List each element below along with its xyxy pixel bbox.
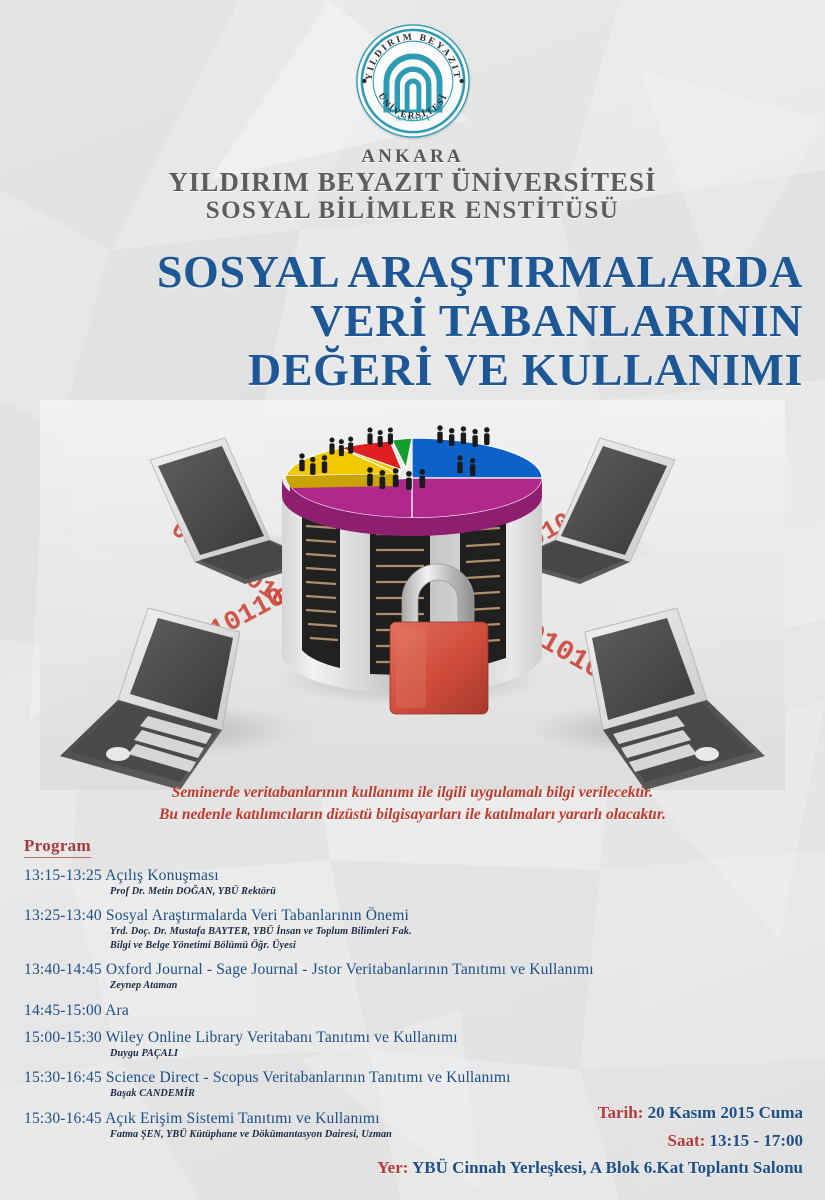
- university-name-line1: YILDIRIM BEYAZIT ÜNİVERSİTESİ: [0, 168, 825, 197]
- program-item-speaker-line: Bilgi ve Belge Yönetimi Bölümü Öğr. Üyes…: [110, 939, 724, 952]
- program-item-main: 13:40-14:45 Oxford Journal - Sage Journa…: [24, 961, 724, 979]
- event-date-value: 20 Kasım 2015 Cuma: [648, 1103, 803, 1122]
- program-item-speaker: Zeynep Ataman: [110, 979, 724, 992]
- program-item: 13:15-13:25 Açılış KonuşmasıProf Dr. Met…: [24, 867, 724, 898]
- seminar-note: Seminerde veritabanlarının kullanımı ile…: [0, 782, 825, 827]
- event-time-label: Saat:: [667, 1131, 705, 1150]
- event-time-line: Saat: 13:15 - 17:00: [377, 1127, 803, 1155]
- note-line-1: Seminerde veritabanlarının kullanımı ile…: [0, 782, 825, 804]
- title-line-1: SOSYAL ARAŞTIRMALARDA: [0, 248, 803, 297]
- program-item: 14:45-15:00 Ara: [24, 1002, 724, 1020]
- program-item-speaker-line: Zeynep Ataman: [110, 979, 724, 992]
- program-item-main: 15:30-16:45 Science Direct - Scopus Veri…: [24, 1069, 724, 1087]
- event-details: Tarih: 20 Kasım 2015 Cuma Saat: 13:15 - …: [377, 1099, 803, 1182]
- event-date-line: Tarih: 20 Kasım 2015 Cuma: [377, 1099, 803, 1127]
- program-item-speaker-line: Duygu PAÇALI: [110, 1047, 724, 1060]
- event-place-line: Yer: YBÜ Cinnah Yerleşkesi, A Blok 6.Kat…: [377, 1154, 803, 1182]
- event-place-value: YBÜ Cinnah Yerleşkesi, A Blok 6.Kat Topl…: [412, 1158, 803, 1177]
- university-name: YILDIRIM BEYAZIT ÜNİVERSİTESİ SOSYAL BİL…: [0, 168, 825, 224]
- database-security-illustration: 01010101010 010101101 101010101 1101010: [40, 400, 785, 790]
- event-time-value: 13:15 - 17:00: [710, 1131, 803, 1150]
- event-place-label: Yer:: [377, 1158, 408, 1177]
- program-item: 15:30-16:45 Science Direct - Scopus Veri…: [24, 1069, 724, 1100]
- program-item-speaker-line: Prof Dr. Metin DOĞAN, YBÜ Rektörü: [110, 885, 724, 898]
- university-name-line2: SOSYAL BİLİMLER ENSTİTÜSÜ: [0, 197, 825, 224]
- program-item-speaker: Yrd. Doç. Dr. Mustafa BAYTER, YBÜ İnsan …: [110, 925, 724, 952]
- program-item-speaker: Prof Dr. Metin DOĞAN, YBÜ Rektörü: [110, 885, 724, 898]
- note-line-2: Bu nedenle katılımcıların dizüstü bilgis…: [0, 804, 825, 826]
- poster-title: SOSYAL ARAŞTIRMALARDA VERİ TABANLARININ …: [0, 248, 803, 394]
- poster-canvas: ANKARA YILDIRIM BEYAZIT ÜNİVERSİTESİ ANK…: [0, 0, 825, 1200]
- program-heading: Program: [24, 836, 91, 858]
- program-item-main: 14:45-15:00 Ara: [24, 1002, 724, 1020]
- program-item: 13:25-13:40 Sosyal Araştırmalarda Veri T…: [24, 907, 724, 952]
- program-item-speaker-line: Yrd. Doç. Dr. Mustafa BAYTER, YBÜ İnsan …: [110, 925, 724, 938]
- poster-header: ANKARA YILDIRIM BEYAZIT ÜNİVERSİTESİ ANK…: [0, 0, 825, 224]
- program-item: 15:00-15:30 Wiley Online Library Veritab…: [24, 1029, 724, 1060]
- program-item-main: 13:25-13:40 Sosyal Araştırmalarda Veri T…: [24, 907, 724, 925]
- event-date-label: Tarih:: [598, 1103, 644, 1122]
- title-line-2: VERİ TABANLARININ: [0, 297, 803, 346]
- program-item-speaker: Duygu PAÇALI: [110, 1047, 724, 1060]
- university-logo: ANKARA YILDIRIM BEYAZIT ÜNİVERSİTESİ: [354, 22, 472, 140]
- city-label: ANKARA: [0, 146, 825, 168]
- program-item-main: 15:00-15:30 Wiley Online Library Veritab…: [24, 1029, 724, 1047]
- program-item: 13:40-14:45 Oxford Journal - Sage Journa…: [24, 961, 724, 992]
- title-line-3: DEĞERİ VE KULLANIMI: [0, 346, 803, 395]
- program-item-main: 13:15-13:25 Açılış Konuşması: [24, 867, 724, 885]
